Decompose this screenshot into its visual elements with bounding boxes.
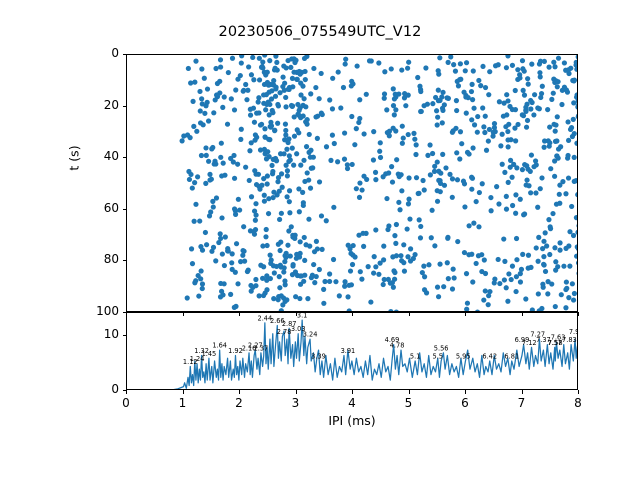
hist-xtick-7-mark <box>522 390 523 394</box>
hist-xtick-4: 4 <box>332 396 372 410</box>
hist-xtick-1-mark <box>183 390 184 394</box>
scatter-plot-panel <box>126 54 578 312</box>
hist-xtick-2: 2 <box>219 396 259 410</box>
hist-xtick-0-mark <box>126 390 127 394</box>
scatter-xtick-6-mark <box>465 312 466 316</box>
hist-ytick-10-mark <box>123 335 127 336</box>
scatter-ytick-80-mark <box>123 260 127 261</box>
scatter-xtick-7-mark <box>522 312 523 316</box>
scatter-ytick-20: 20 <box>64 98 119 112</box>
scatter-ytick-80: 80 <box>64 252 119 266</box>
scatter-xtick-2-mark <box>239 312 240 316</box>
svg-text:3.91: 3.91 <box>341 347 356 355</box>
svg-text:2.37: 2.37 <box>254 344 269 352</box>
svg-text:5.1: 5.1 <box>410 353 421 361</box>
hist-xtick-6-mark <box>465 390 466 394</box>
scatter-xtick-5-mark <box>409 312 410 316</box>
svg-text:7.83: 7.83 <box>562 336 577 344</box>
scatter-xtick-3-mark <box>296 312 297 316</box>
hist-xtick-1: 1 <box>163 396 203 410</box>
scatter-ytick-60-mark <box>123 209 127 210</box>
histogram-line-layer: 1.121.241.321.451.641.922.162.272.372.44… <box>127 313 578 390</box>
hist-ytick-10: 10 <box>64 327 119 341</box>
hist-xtick-7: 7 <box>502 396 542 410</box>
svg-text:7.12: 7.12 <box>522 339 537 347</box>
svg-text:1.64: 1.64 <box>212 342 227 350</box>
scatter-ytick-0-mark <box>123 54 127 55</box>
scatter-xtick-1-mark <box>183 312 184 316</box>
svg-text:5.95: 5.95 <box>456 353 471 361</box>
hist-xtick-0: 0 <box>106 396 146 410</box>
svg-text:1.92: 1.92 <box>228 347 243 355</box>
hist-xtick-3-mark <box>296 390 297 394</box>
hist-xtick-8-mark <box>578 390 579 394</box>
hist-xtick-2-mark <box>239 390 240 394</box>
scatter-ytick-40: 40 <box>64 149 119 163</box>
scatter-xtick-8-mark <box>578 312 579 316</box>
scatter-ytick-20-mark <box>123 106 127 107</box>
scatter-ytick-100: 100 <box>64 304 119 318</box>
svg-text:5.5: 5.5 <box>433 353 444 361</box>
hist-xtick-3: 3 <box>276 396 316 410</box>
svg-text:6.81: 6.81 <box>504 353 519 361</box>
scatter-ytick-60: 60 <box>64 201 119 215</box>
hist-xtick-6: 6 <box>445 396 485 410</box>
hist-xtick-5-mark <box>409 390 410 394</box>
matplotlib-figure: 20230506_075549UTC_V12 t (s) 1.121.241.3… <box>0 0 640 480</box>
scatter-xtick-0-mark <box>126 312 127 316</box>
svg-text:7.95: 7.95 <box>569 328 578 336</box>
svg-text:6.42: 6.42 <box>482 353 497 361</box>
hist-xtick-4-mark <box>352 390 353 394</box>
figure-title: 20230506_075549UTC_V12 <box>0 24 640 40</box>
hist-ytick-0: 0 <box>64 382 119 396</box>
svg-text:3.39: 3.39 <box>311 353 326 361</box>
scatter-points-layer <box>127 55 578 312</box>
svg-text:1.45: 1.45 <box>202 350 217 358</box>
svg-text:3.1: 3.1 <box>297 313 308 320</box>
scatter-ytick-0: 0 <box>64 46 119 60</box>
svg-text:2.78: 2.78 <box>277 328 292 336</box>
svg-text:4.78: 4.78 <box>390 342 405 350</box>
scatter-ytick-40-mark <box>123 157 127 158</box>
svg-text:5.56: 5.56 <box>434 344 449 352</box>
scatter-xtick-4-mark <box>352 312 353 316</box>
hist-xtick-5: 5 <box>389 396 429 410</box>
svg-text:3.24: 3.24 <box>303 331 318 339</box>
histogram-panel: 1.121.241.321.451.641.922.162.272.372.44… <box>126 312 578 390</box>
x-axis-label: IPI (ms) <box>126 413 578 428</box>
hist-xtick-8: 8 <box>558 396 598 410</box>
